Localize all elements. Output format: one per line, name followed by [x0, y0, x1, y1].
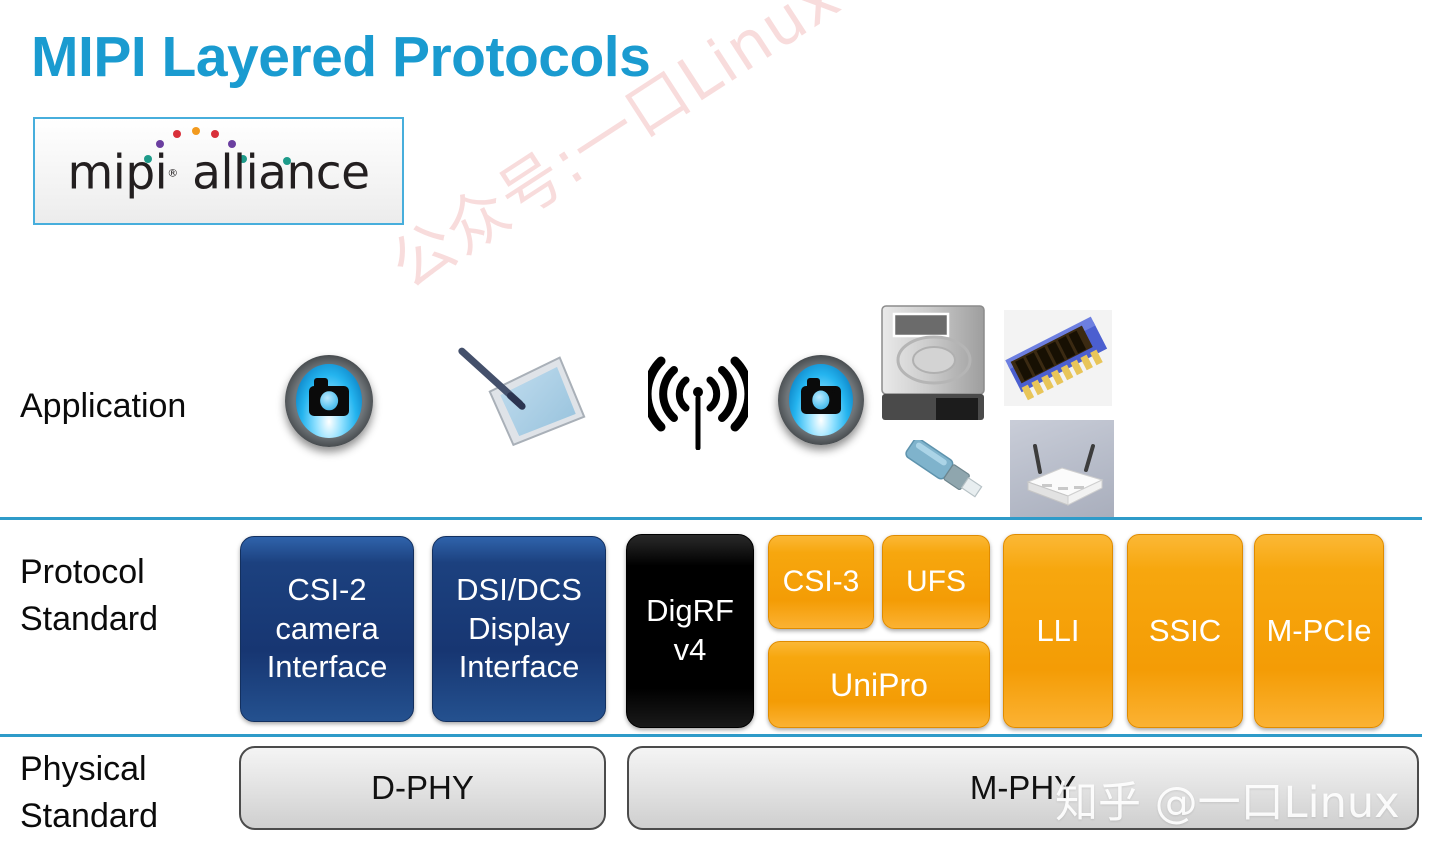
protocol-box-csi2[interactable]: CSI-2 camera Interface [240, 536, 414, 722]
camera-flash-glyph-2 [832, 390, 836, 393]
row-label-application: Application [20, 383, 186, 430]
camera-icon [285, 355, 373, 447]
memory-module-svg [1004, 310, 1112, 406]
usb-flash-drive-icon [898, 440, 990, 502]
tablet-stylus-svg [451, 326, 595, 455]
physical-box-mphy[interactable]: M-PHY [627, 746, 1419, 830]
protocol-box-dsidcs[interactable]: DSI/DCS Display Interface [432, 536, 606, 722]
page-title: MIPI Layered Protocols [31, 26, 650, 89]
tablet-stylus-icon [451, 326, 595, 455]
antenna-svg [648, 350, 748, 450]
camera-body-glyph-2 [801, 386, 840, 415]
wifi-router-icon [1010, 420, 1114, 518]
divider-protocol-top [0, 517, 1422, 520]
mipi-alliance-logo: mipi® alliance [33, 117, 404, 225]
row-label-physical: Physical Standard [20, 746, 158, 840]
hard-drive-icon [876, 302, 991, 424]
logo-alliance-text: alliance [192, 146, 369, 201]
protocol-box-digrf[interactable]: DigRF v4 [626, 534, 754, 728]
wifi-router-svg [1010, 420, 1114, 518]
logo-mipi-text: mipi [67, 146, 167, 201]
logo-wordmark: mipi® alliance [67, 146, 369, 201]
hard-drive-svg [876, 302, 991, 424]
protocol-box-unipro[interactable]: UniPro [768, 641, 990, 728]
memory-module-icon [1004, 310, 1112, 406]
camera-lens-background-2 [789, 364, 853, 436]
divider-physical-top [0, 734, 1422, 737]
protocol-box-csi3[interactable]: CSI-3 [768, 535, 874, 629]
camera-body-glyph [309, 386, 349, 415]
physical-box-dphy[interactable]: D-PHY [239, 746, 606, 830]
protocol-box-ssic[interactable]: SSIC [1127, 534, 1243, 728]
protocol-box-mpcie[interactable]: M-PCIe [1254, 534, 1384, 728]
row-label-protocol: Protocol Standard [20, 549, 158, 643]
camera-lens-background [296, 364, 361, 438]
usb-flash-drive-svg [898, 440, 990, 502]
antenna-icon [648, 350, 748, 450]
logo-registered-mark: ® [167, 167, 178, 180]
camera-icon-2 [778, 355, 864, 445]
logo-inner: mipi® alliance [35, 119, 402, 223]
camera-flash-glyph [340, 391, 344, 394]
protocol-box-ufs[interactable]: UFS [882, 535, 990, 629]
protocol-box-lli[interactable]: LLI [1003, 534, 1113, 728]
slide-root: MIPI Layered Protocols mipi® alliance Ap… [0, 0, 1440, 855]
